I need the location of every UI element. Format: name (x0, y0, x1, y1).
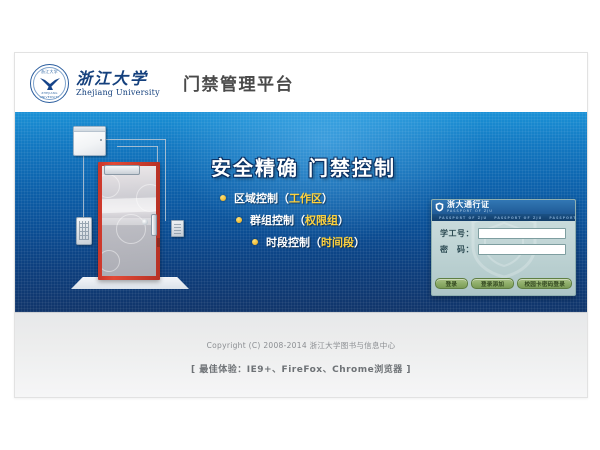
strip-text-3: PASSPORT OF ZJU (549, 216, 575, 220)
controller-led (100, 139, 102, 141)
shield-icon (435, 202, 444, 212)
password-input[interactable] (478, 244, 566, 255)
door-handle (151, 214, 157, 236)
keypad-keys (79, 221, 89, 240)
site-header: 浙江大学 ZHEJIANG UNIVERSITY 浙江大学 Zhejiang U… (15, 53, 587, 113)
card-reader-slots (174, 223, 181, 234)
login-panel-marquee-strip: PASSPORT OF ZJU PASSPORT OF ZJU PASSPORT… (432, 214, 575, 221)
door-knob (142, 219, 148, 225)
university-name-en: Zhejiang University (76, 89, 160, 97)
door-frame (98, 162, 160, 280)
feature-bullet-area-control: 区域控制（工作区） (220, 190, 400, 206)
strip-text-2: PASSPORT OF ZJU (494, 216, 542, 220)
controller-box-icon (73, 126, 106, 156)
login-form: 学工号： 密 码： (432, 223, 575, 255)
university-logo[interactable]: 浙江大学 ZHEJIANG UNIVERSITY 浙江大学 Zhejiang U… (30, 64, 160, 103)
hero-banner: 安全精确 门禁控制 区域控制（工作区） 群组控制（权限组） 时段控制（时间段） (15, 112, 587, 312)
userid-input[interactable] (478, 228, 566, 239)
bullet-tail: ） (322, 190, 333, 206)
banner-headline: 安全精确 门禁控制 (211, 152, 396, 181)
university-name-cn: 浙江大学 (76, 71, 160, 87)
seal-bird-glyph (39, 76, 61, 92)
cable-down-to-reader (165, 139, 166, 221)
cable-box-to-door-top (104, 139, 166, 140)
browser-support-note: [ 最佳体验：IE9+、FireFox、Chrome浏览器 ] (15, 362, 587, 375)
site-footer: Copyright (C) 2008-2014 浙江大学图书与信息中心 [ 最佳… (15, 312, 587, 398)
login-row-userid: 学工号： (436, 228, 575, 239)
bullet-tail: ） (354, 234, 365, 250)
bullet-text: 群组控制（ (250, 212, 305, 228)
glass-swirl-1 (102, 174, 120, 198)
cable-box-to-keypad (83, 154, 84, 218)
login-panel-title-cn: 浙大通行证 (447, 201, 493, 209)
feature-bullet-list: 区域控制（工作区） 群组控制（权限组） 时段控制（时间段） (220, 190, 400, 256)
glass-swirl-3 (102, 250, 120, 272)
glass-swirl-4 (116, 214, 146, 244)
bullet-tail: ） (338, 212, 349, 228)
bullet-text: 时段控制（ (266, 234, 321, 250)
login-button[interactable]: 登录 (435, 278, 468, 289)
login-panel-titles: 浙大通行证 PASSPORT OF ZJU (447, 201, 493, 214)
bullet-dot-icon (220, 195, 226, 201)
login-panel-header: 浙大通行证 PASSPORT OF ZJU (432, 200, 575, 214)
door-strike-plate (157, 238, 160, 247)
feature-bullet-time-control: 时段控制（时间段） (252, 234, 400, 250)
keypad-icon (76, 217, 92, 245)
bullet-dot-icon (252, 239, 258, 245)
userid-label: 学工号： (436, 228, 474, 239)
feature-bullet-group-control: 群组控制（权限组） (236, 212, 400, 228)
card-reader-icon (171, 220, 184, 237)
page-title: 门禁管理平台 (183, 70, 294, 95)
login-panel-title-en: PASSPORT OF ZJU (447, 210, 493, 214)
strip-text-1: PASSPORT OF ZJU (439, 216, 487, 220)
bullet-highlight: 权限组 (305, 212, 338, 228)
password-label: 密 码： (436, 244, 474, 255)
door-closer-arm (104, 165, 140, 175)
glass-swirl-2 (136, 184, 156, 212)
logo-wordmark: 浙江大学 Zhejiang University (76, 71, 160, 97)
copyright-text: Copyright (C) 2008-2014 浙江大学图书与信息中心 (15, 340, 587, 351)
access-control-illustration (57, 120, 193, 306)
bullet-highlight: 工作区 (289, 190, 322, 206)
campus-card-login-button[interactable]: 校园卡密码登录 (517, 278, 572, 289)
controller-box-lid (74, 127, 105, 132)
application-page: 浙江大学 ZHEJIANG UNIVERSITY 浙江大学 Zhejiang U… (14, 52, 588, 398)
login-add-button[interactable]: 登录添加 (471, 278, 515, 289)
seal-top-text: 浙江大学 (31, 69, 68, 75)
login-panel: 浙大通行证 PASSPORT OF ZJU PASSPORT OF ZJU PA… (431, 199, 576, 296)
zju-seal-icon: 浙江大学 ZHEJIANG UNIVERSITY (30, 64, 69, 103)
bullet-highlight: 时间段 (321, 234, 354, 250)
seal-bottom-text: ZHEJIANG UNIVERSITY (31, 91, 68, 99)
bullet-dot-icon (236, 217, 242, 223)
login-button-group: 登录 登录添加 校园卡密码登录 (435, 278, 572, 289)
cable-door-branch-h (117, 146, 158, 147)
login-row-password: 密 码： (436, 244, 575, 255)
bullet-text: 区域控制（ (234, 190, 289, 206)
